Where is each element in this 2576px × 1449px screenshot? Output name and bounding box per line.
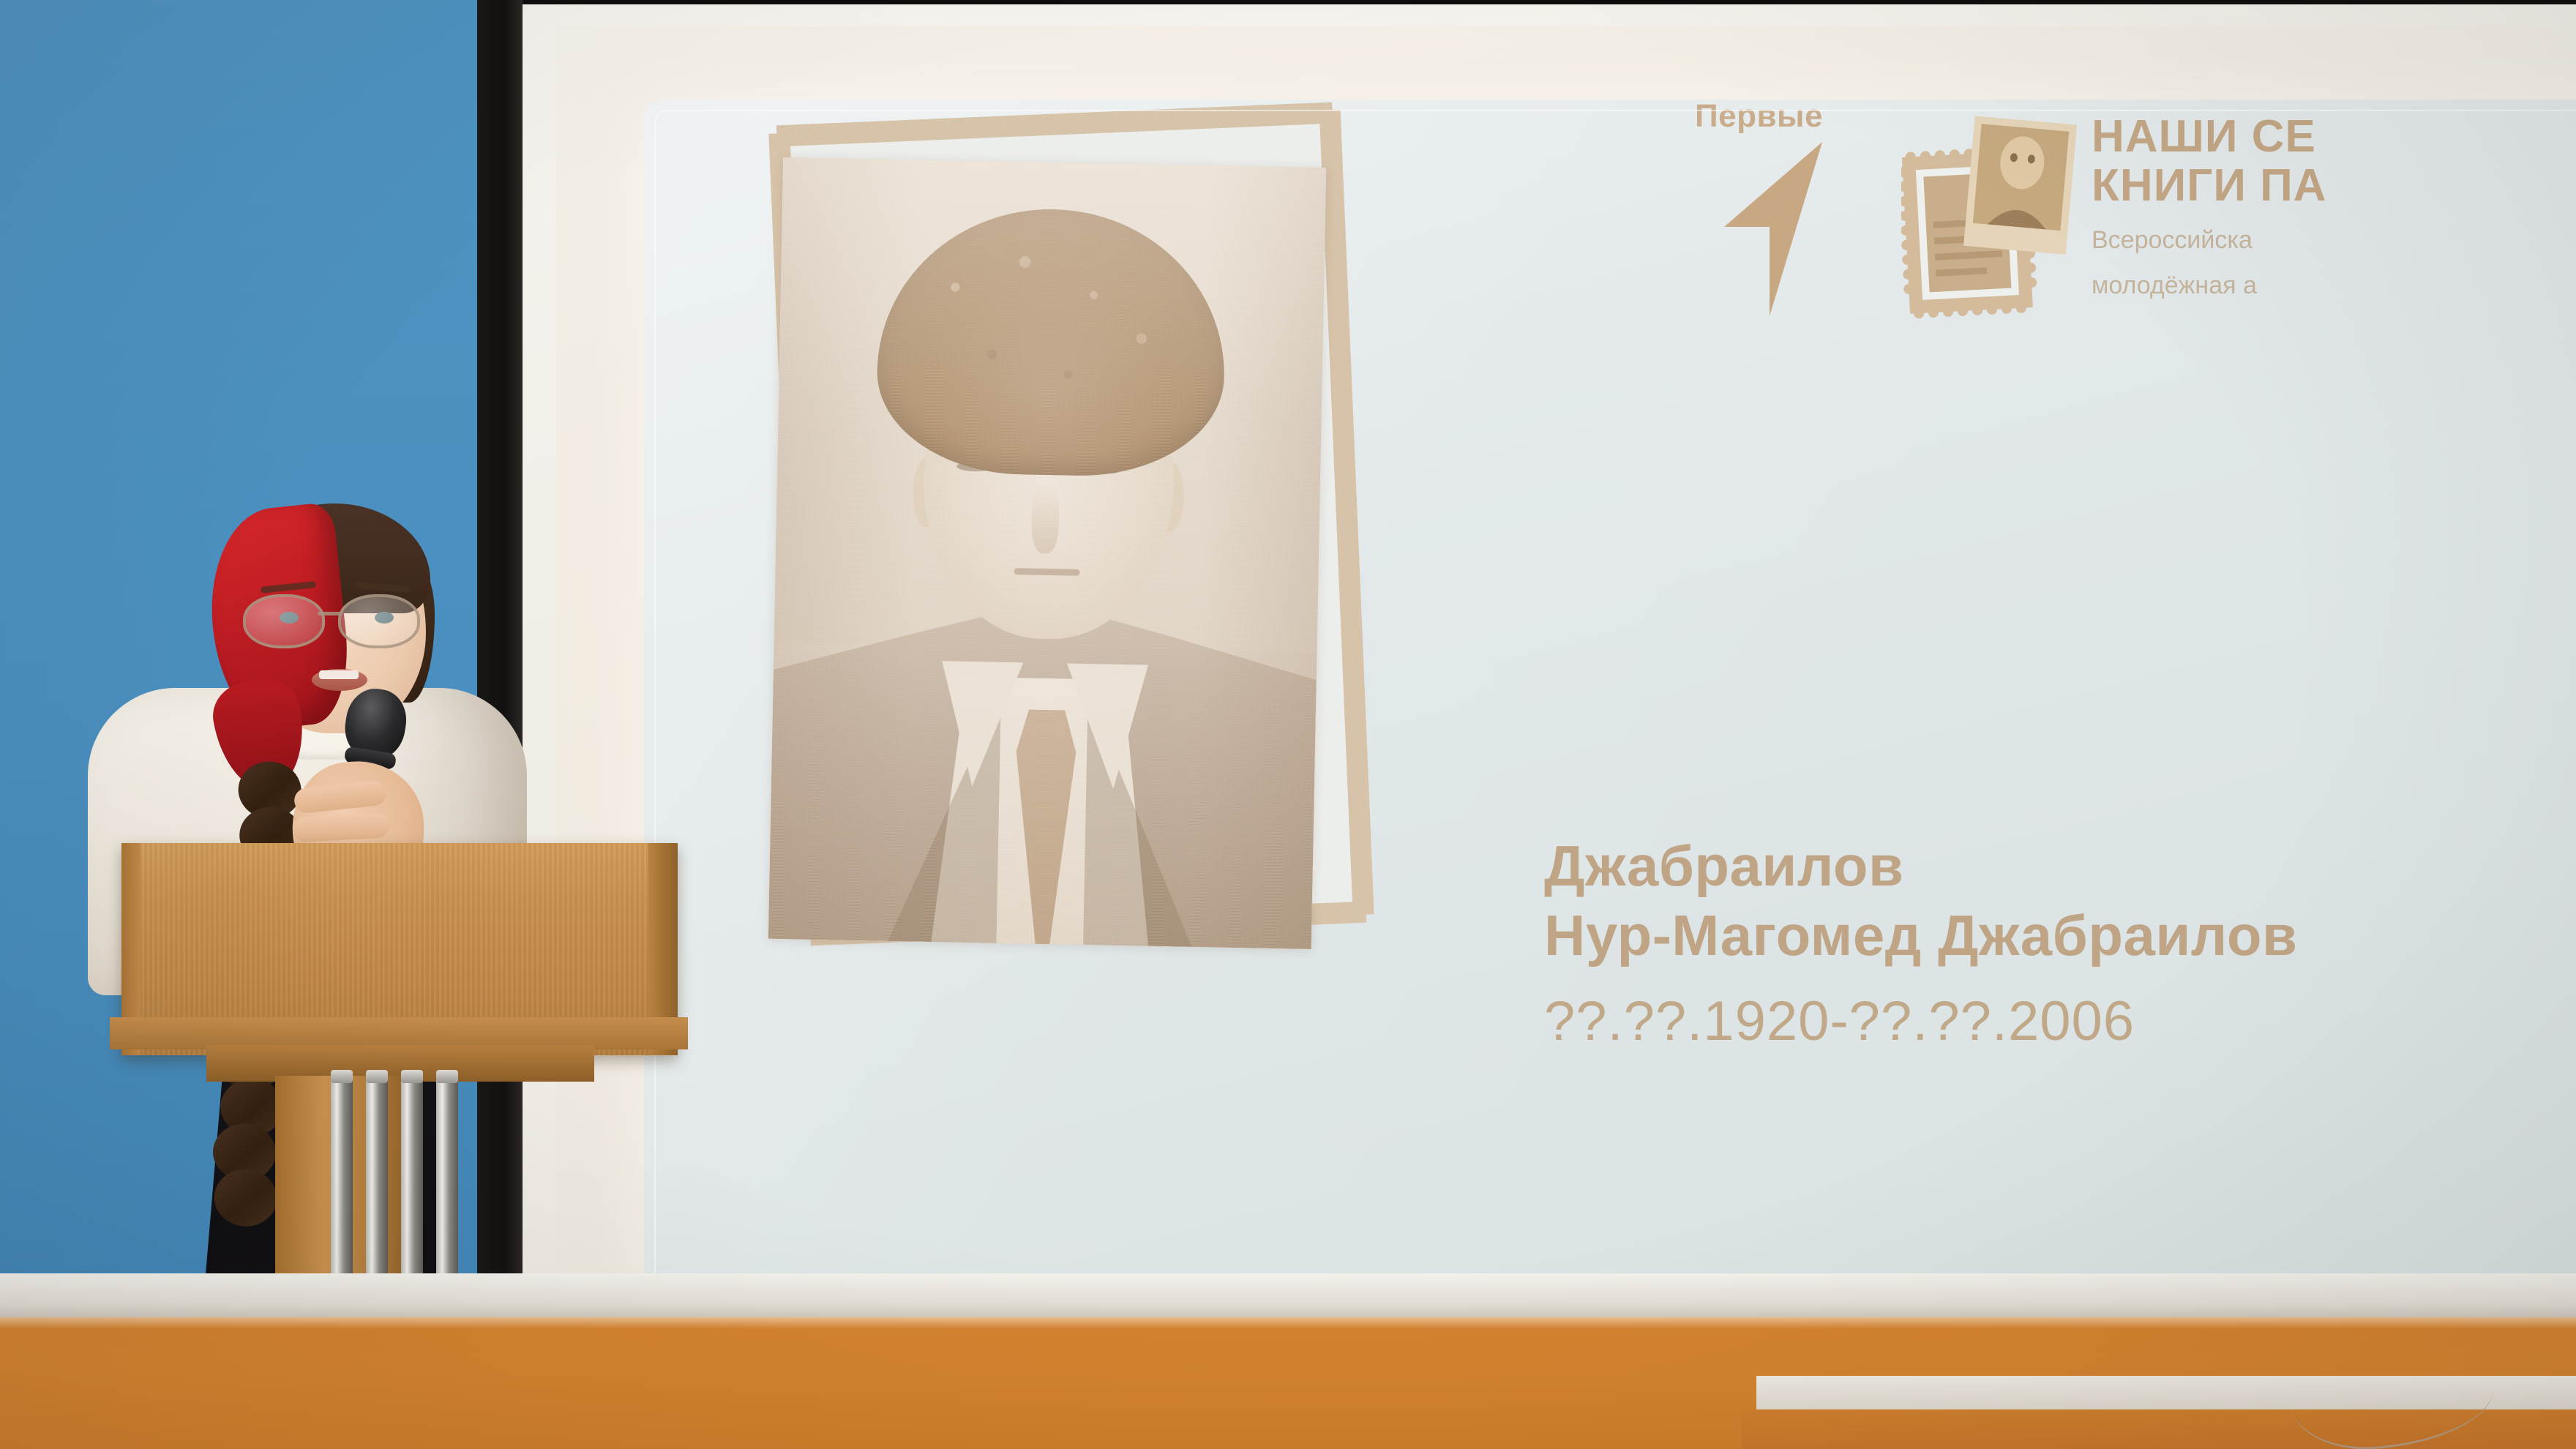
portrait-image — [768, 157, 1326, 949]
speaker-teeth — [319, 670, 359, 679]
caption-full-name: Нур-Магомед Джабраилов — [1544, 901, 2576, 970]
eyeglasses — [241, 594, 432, 645]
pipe-cap-1 — [331, 1070, 353, 1083]
glasses-bridge — [318, 612, 342, 615]
caption-surname: Джабраилов — [1544, 831, 2576, 901]
pervye-logo: Первые — [1690, 97, 1881, 338]
caption-dates: ??.??.1920-??.??.2006 — [1544, 989, 2576, 1053]
stamp-photo-icon — [1901, 110, 2077, 322]
brand-wordmark: НАШИ СЕ КНИГИ ПА Всероссийска молодёжная… — [2092, 113, 2576, 302]
pipe-cap-2 — [366, 1070, 388, 1083]
brand-title-line2: КНИГИ ПА — [2092, 162, 2576, 211]
baseboard-left — [0, 1273, 2576, 1317]
brand-title-line1: НАШИ СЕ — [2092, 113, 2576, 162]
memorial-caption: Джабраилов Нур-Магомед Джабраилов ??.??.… — [1544, 831, 2576, 1053]
pipe-cap-4 — [436, 1070, 458, 1083]
finger-2 — [292, 813, 390, 843]
slide-branding: Первые — [1690, 97, 2576, 338]
stamp-portrait-frame — [776, 121, 1361, 978]
brand-subtitle-line1: Всероссийска — [2092, 224, 2576, 256]
presentation-slide: Первые — [644, 100, 2576, 1285]
pervye-label: Первые — [1695, 98, 1823, 135]
lens-right — [338, 594, 420, 648]
portrait-nose — [1031, 482, 1060, 553]
floor-highlight — [0, 1317, 2576, 1329]
brand-subtitle-line2: молодёжная а — [2092, 269, 2576, 302]
arrow-one-icon — [1714, 138, 1831, 324]
pipe-cap-3 — [401, 1070, 423, 1083]
archival-portrait-photo — [768, 157, 1326, 949]
scene-photograph: Первые — [0, 0, 2576, 1449]
lens-left — [243, 594, 325, 648]
